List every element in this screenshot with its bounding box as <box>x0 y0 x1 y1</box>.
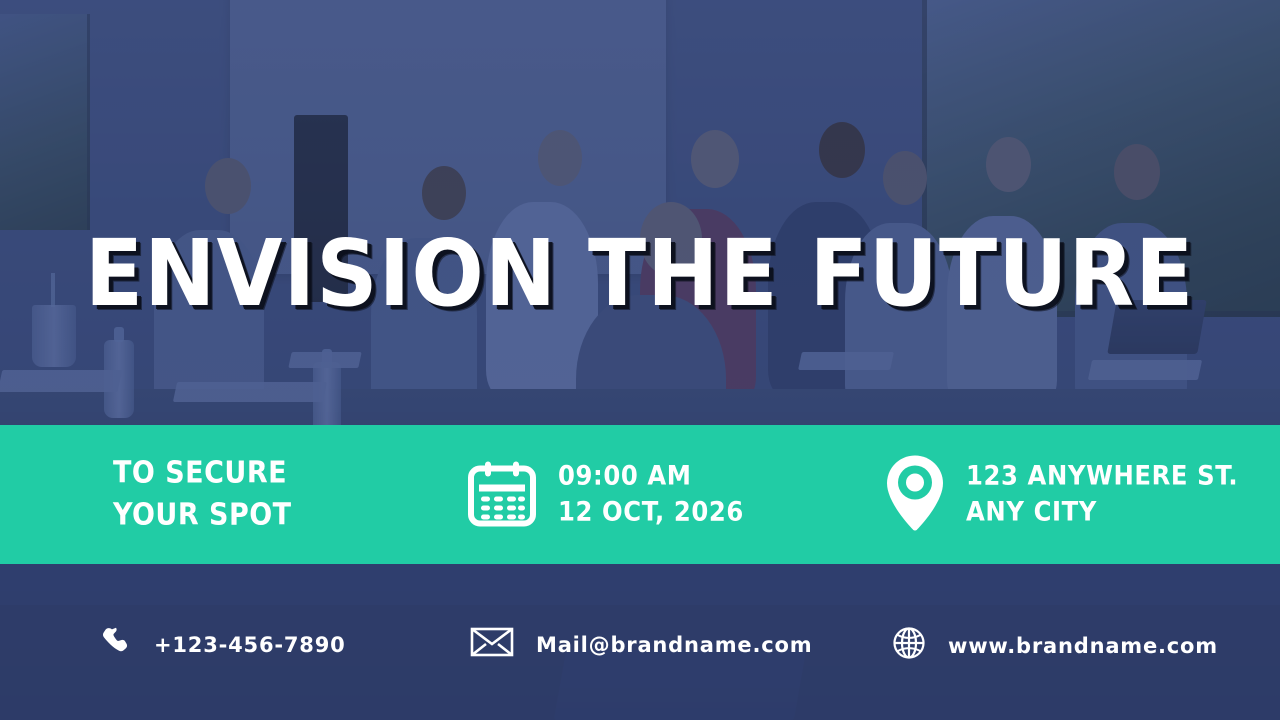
envelope-icon <box>470 626 514 663</box>
globe-icon <box>892 626 926 665</box>
phone-icon <box>100 626 132 663</box>
address-line-2: ANY CITY <box>966 495 1238 531</box>
calendar-icon <box>466 456 538 533</box>
cta-band: TO SECURE YOUR SPOT <box>0 425 1280 564</box>
email-address: Mail@brandname.com <box>536 633 812 657</box>
cta-secure-text: TO SECURE YOUR SPOT <box>113 452 292 537</box>
website-url: www.brandname.com <box>948 634 1218 658</box>
page-title: ENVISION THE FUTURE <box>85 228 1195 320</box>
poster-canvas: ENVISION THE FUTURE TO SECURE YOUR SPOT <box>0 0 1280 720</box>
contact-email[interactable]: Mail@brandname.com <box>470 626 812 663</box>
map-pin-icon <box>884 453 946 536</box>
event-time: 09:00 AM <box>558 459 744 495</box>
cta-secure-line2: YOUR SPOT <box>113 495 292 538</box>
hero-headline-wrap: ENVISION THE FUTURE <box>0 214 1280 334</box>
contact-website[interactable]: www.brandname.com <box>892 626 1218 665</box>
phone-number: +123-456-7890 <box>154 633 346 657</box>
address-line-1: 123 ANYWHERE ST. <box>966 459 1238 495</box>
contact-phone[interactable]: +123-456-7890 <box>100 626 346 663</box>
event-date: 12 OCT, 2026 <box>558 495 744 531</box>
cta-secure-line1: TO SECURE <box>113 452 292 495</box>
event-datetime-text: 09:00 AM 12 OCT, 2026 <box>558 459 744 530</box>
event-datetime-block: 09:00 AM 12 OCT, 2026 <box>466 456 744 533</box>
footer-bar: +123-456-7890 Mail@brandname.com <box>0 564 1280 720</box>
event-location-block: 123 ANYWHERE ST. ANY CITY <box>884 453 1238 536</box>
event-address-text: 123 ANYWHERE ST. ANY CITY <box>966 459 1238 530</box>
